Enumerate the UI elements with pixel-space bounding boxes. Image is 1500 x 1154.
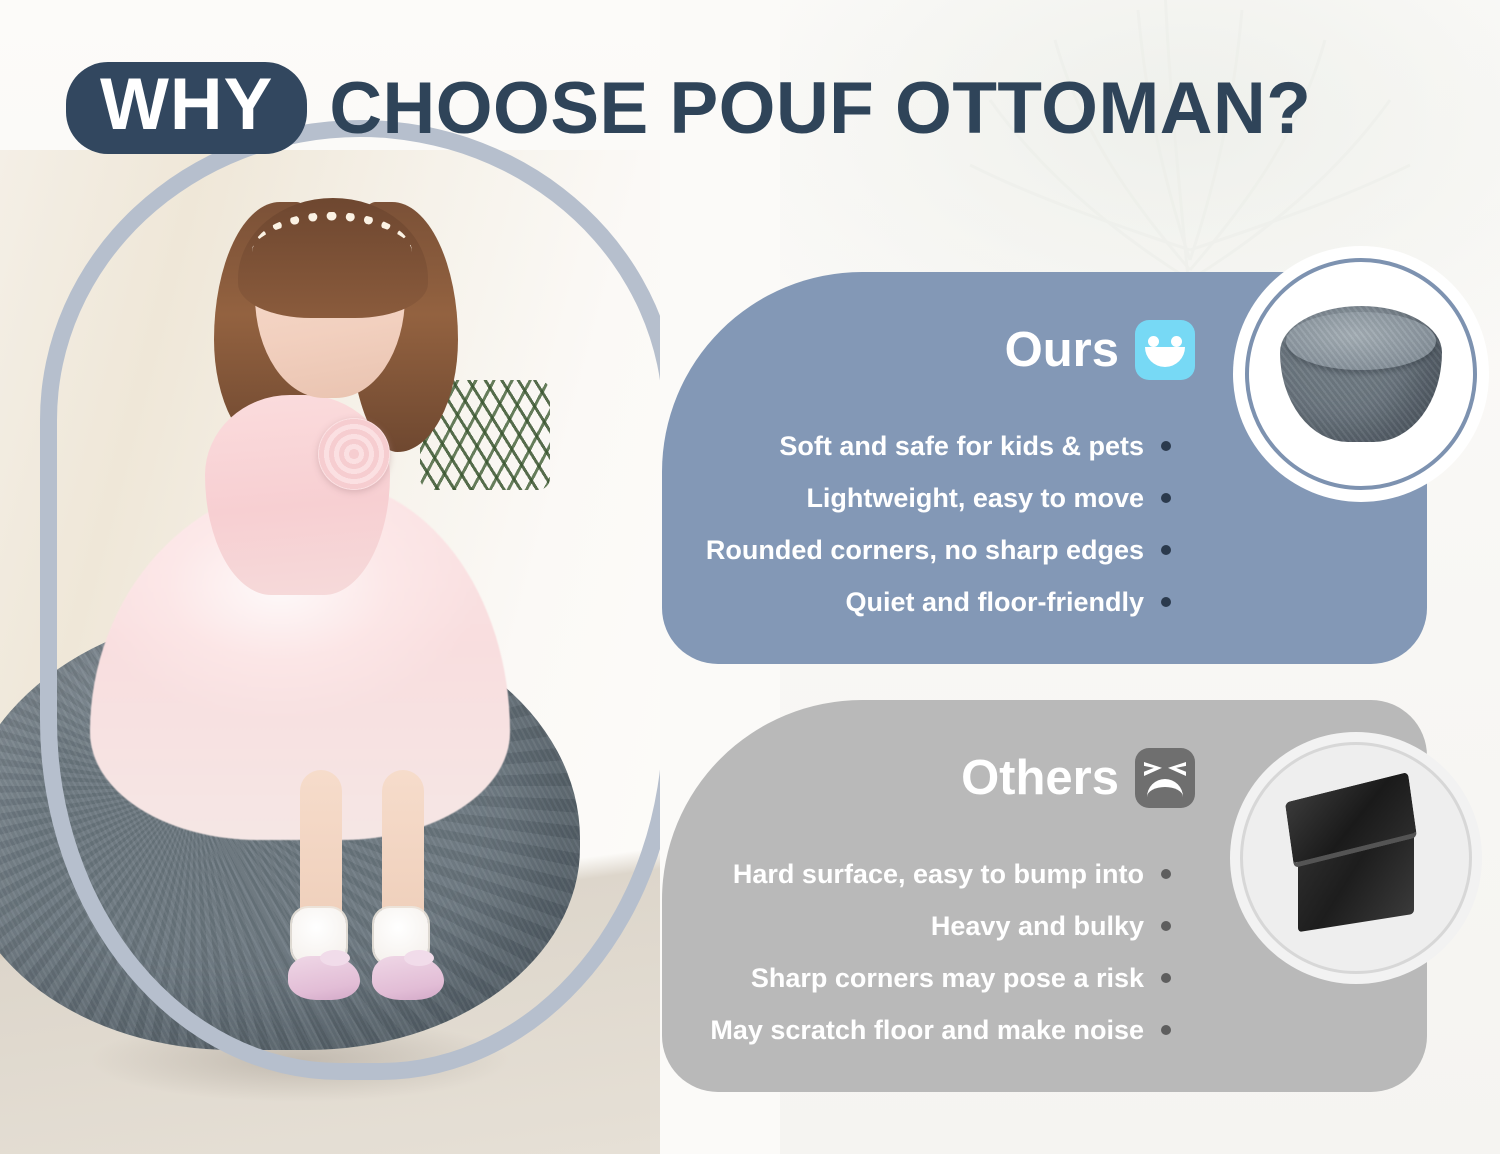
ours-bullet-text: Lightweight, easy to move [806,485,1144,512]
bullet-dot-icon [1161,921,1171,931]
ours-bullet-list: Soft and safe for kids & pets Lightweigh… [631,427,1171,635]
ours-bullet-text: Quiet and floor-friendly [845,589,1144,616]
happy-mouth [1145,347,1185,367]
list-item: Heavy and bulky [631,907,1171,945]
page-title-text: CHOOSE POUF OTTOMAN? [329,72,1311,145]
bullet-dot-icon [1161,493,1171,503]
ours-label: Ours [1005,326,1119,375]
why-badge: WHY [66,62,307,154]
happy-eye-left [1148,336,1159,347]
others-bullet-list: Hard surface, easy to bump into Heavy an… [631,855,1171,1063]
bullet-dot-icon [1161,1025,1171,1035]
infographic-stage: WHY CHOOSE POUF OTTOMAN? [0,0,1500,1154]
others-bullet-text: Hard surface, easy to bump into [733,861,1144,888]
list-item: Hard surface, easy to bump into [631,855,1171,893]
others-product-thumbnail [1240,742,1472,974]
round-pouf-ottoman-image [1280,306,1442,442]
list-item: May scratch floor and make noise [631,1011,1171,1049]
list-item: Soft and safe for kids & pets [631,427,1171,465]
page-title: WHY CHOOSE POUF OTTOMAN? [66,62,1311,154]
sad-eye-left [1144,762,1162,776]
ours-product-thumbnail [1245,258,1477,490]
others-bullet-text: Heavy and bulky [931,913,1144,940]
others-bullet-text: Sharp corners may pose a risk [751,965,1144,992]
others-header: Others [961,748,1195,808]
square-storage-ottoman-image [1272,783,1440,933]
others-bullet-text: May scratch floor and make noise [710,1017,1144,1044]
list-item: Rounded corners, no sharp edges [631,531,1171,569]
happy-face-icon [1135,320,1195,380]
list-item: Quiet and floor-friendly [631,583,1171,621]
ours-bullet-text: Soft and safe for kids & pets [779,433,1144,460]
sad-eye-right [1168,762,1186,776]
sad-face-icon [1135,748,1195,808]
list-item: Sharp corners may pose a risk [631,959,1171,997]
ours-header: Ours [1005,320,1195,380]
list-item: Lightweight, easy to move [631,479,1171,517]
photo-arc-frame [40,120,680,1080]
others-label: Others [961,754,1119,803]
happy-eye-right [1171,336,1182,347]
bullet-dot-icon [1161,973,1171,983]
ours-bullet-text: Rounded corners, no sharp edges [706,537,1144,564]
bullet-dot-icon [1161,597,1171,607]
bullet-dot-icon [1161,441,1171,451]
bullet-dot-icon [1161,869,1171,879]
sad-mouth [1147,779,1183,797]
bullet-dot-icon [1161,545,1171,555]
